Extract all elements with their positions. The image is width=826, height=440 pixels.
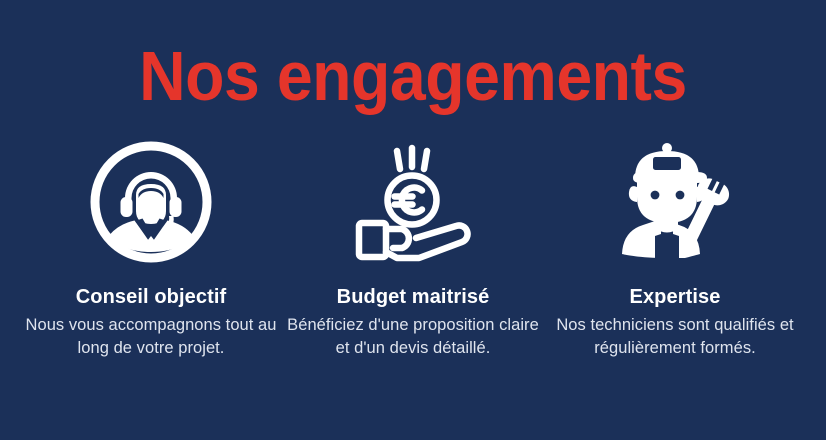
icon-container bbox=[89, 140, 213, 264]
engagement-title: Expertise bbox=[630, 285, 721, 309]
engagement-column-budget-maitrise: Budget maitrisé Bénéficiez d'une proposi… bbox=[282, 140, 544, 360]
engagement-description: Nous vous accompagnons tout au long de v… bbox=[21, 314, 281, 360]
support-agent-headset-icon bbox=[89, 140, 213, 264]
icon-container bbox=[615, 140, 735, 264]
engagement-description: Bénéficiez d'une proposition claire et d… bbox=[283, 314, 543, 360]
hand-holding-euro-coin-icon bbox=[350, 140, 476, 264]
icon-container bbox=[350, 140, 476, 264]
engagement-column-conseil-objectif: Conseil objectif Nous vous accompagnons … bbox=[20, 140, 282, 360]
engagement-column-expertise: Expertise Nos techniciens sont qualifiés… bbox=[544, 140, 806, 360]
engagement-description: Nos techniciens sont qualifiés et réguli… bbox=[545, 314, 805, 360]
engagement-title: Budget maitrisé bbox=[337, 285, 490, 309]
engagement-title: Conseil objectif bbox=[76, 285, 227, 309]
page-title: Nos engagements bbox=[33, 38, 793, 114]
engagements-banner: Nos engagements bbox=[0, 0, 826, 440]
engagements-column-list: Conseil objectif Nous vous accompagnons … bbox=[0, 140, 826, 360]
technician-with-wrench-icon bbox=[615, 140, 735, 264]
